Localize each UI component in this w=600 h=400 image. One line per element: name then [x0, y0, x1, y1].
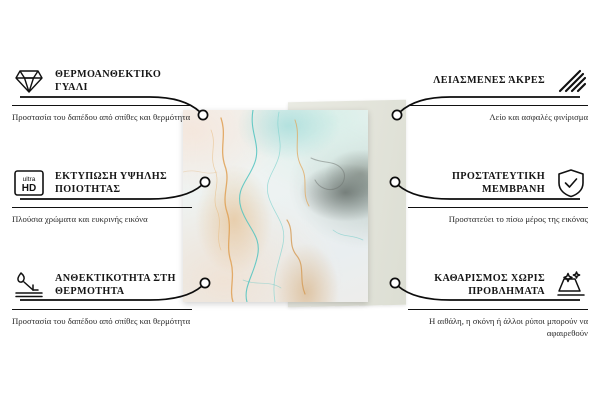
- feature-title: ΘΕΡΜΟΑΝΘΕΚΤΙΚΟ ΓΥΑΛΙ: [55, 68, 192, 95]
- feature-heading: ultra HD ΕΚΤΥΠΩΣΗ ΥΨΗΛΗΣ ΠΟΙΟΤΗΤΑΣ: [12, 164, 192, 202]
- feature-protective-film: ΠΡΟΣΤΑΤΕΥΤΙΚΗ ΜΕΜΒΡΑΝΗ Προστατεύει το πί…: [408, 164, 588, 225]
- ink-veins: [183, 110, 368, 302]
- feature-description: Η αιθάλη, η σκόνη ή άλλοι ρύποι μπορούν …: [408, 315, 588, 339]
- shield-check-icon: [554, 166, 588, 200]
- feature-description: Προστασία του δαπέδου από σπίθες και θερ…: [12, 111, 192, 123]
- panel-front-glass: [183, 110, 368, 302]
- divider: [12, 207, 192, 208]
- feature-title: ΚΑΘΑΡΙΣΜΟΣ ΧΩΡΙΣ ΠΡΟΒΛΗΜΑΤΑ: [408, 272, 545, 299]
- feature-title: ΠΡΟΣΤΑΤΕΥΤΙΚΗ ΜΕΜΒΡΑΝΗ: [408, 170, 545, 197]
- feature-title: ΕΚΤΥΠΩΣΗ ΥΨΗΛΗΣ ΠΟΙΟΤΗΤΑΣ: [55, 170, 192, 197]
- abstract-marble-artwork: [183, 110, 368, 302]
- feature-heading: ΘΕΡΜΟΑΝΘΕΚΤΙΚΟ ΓΥΑΛΙ: [12, 62, 192, 100]
- ultra-hd-icon-ultra-text: ultra: [23, 176, 36, 183]
- feature-heading: ΑΝΘΕΚΤΙΚΟΤΗΤΑ ΣΤΗ ΘΕΡΜΟΤΗΤΑ: [12, 266, 192, 304]
- feature-title: ΛΕΙΑΣΜΕΝΕΣ ΆΚΡΕΣ: [433, 74, 545, 87]
- feature-description: Προστατεύει το πίσω μέρος της εικόνας: [408, 213, 588, 225]
- diamond-icon: [12, 64, 46, 98]
- feature-heading: ΛΕΙΑΣΜΕΝΕΣ ΆΚΡΕΣ: [408, 62, 588, 100]
- feature-easy-cleaning: ΚΑΘΑΡΙΣΜΟΣ ΧΩΡΙΣ ΠΡΟΒΛΗΜΑΤΑ Η αιθάλη, η …: [408, 266, 588, 339]
- feature-polished-edges: ΛΕΙΑΣΜΕΝΕΣ ΆΚΡΕΣ Λείο και ασφαλές φινίρι…: [408, 62, 588, 123]
- divider: [12, 309, 192, 310]
- product-image: [178, 104, 422, 306]
- divider: [408, 309, 588, 310]
- feature-heat-resistant-glass: ΘΕΡΜΟΑΝΘΕΚΤΙΚΟ ΓΥΑΛΙ Προστασία του δαπέδ…: [12, 62, 192, 123]
- feature-heading: ΚΑΘΑΡΙΣΜΟΣ ΧΩΡΙΣ ΠΡΟΒΛΗΜΑΤΑ: [408, 266, 588, 304]
- feature-heat-durability: ΑΝΘΕΚΤΙΚΟΤΗΤΑ ΣΤΗ ΘΕΡΜΟΤΗΤΑ Προστασία το…: [12, 266, 192, 327]
- feature-description: Προστασία του δαπέδου από σπίθες και θερ…: [12, 315, 192, 327]
- feature-description: Λείο και ασφαλές φινίρισμα: [408, 111, 588, 123]
- easy-clean-icon: [554, 268, 588, 302]
- ultra-hd-icon-hd-text: HD: [22, 183, 36, 194]
- divider: [12, 105, 192, 106]
- ultra-hd-icon: ultra HD: [12, 166, 46, 200]
- feature-high-quality-print: ultra HD ΕΚΤΥΠΩΣΗ ΥΨΗΛΗΣ ΠΟΙΟΤΗΤΑΣ Πλούσ…: [12, 164, 192, 225]
- feature-heading: ΠΡΟΣΤΑΤΕΥΤΙΚΗ ΜΕΜΒΡΑΝΗ: [408, 164, 588, 202]
- heat-resistant-icon: [12, 268, 46, 302]
- divider: [408, 207, 588, 208]
- feature-description: Πλούσια χρώματα και ευκρινής εικόνα: [12, 213, 192, 225]
- polished-edges-icon: [554, 64, 588, 98]
- feature-title: ΑΝΘΕΚΤΙΚΟΤΗΤΑ ΣΤΗ ΘΕΡΜΟΤΗΤΑ: [55, 272, 192, 299]
- product-feature-infographic: ΘΕΡΜΟΑΝΘΕΚΤΙΚΟ ΓΥΑΛΙ Προστασία του δαπέδ…: [0, 0, 600, 400]
- divider: [408, 105, 588, 106]
